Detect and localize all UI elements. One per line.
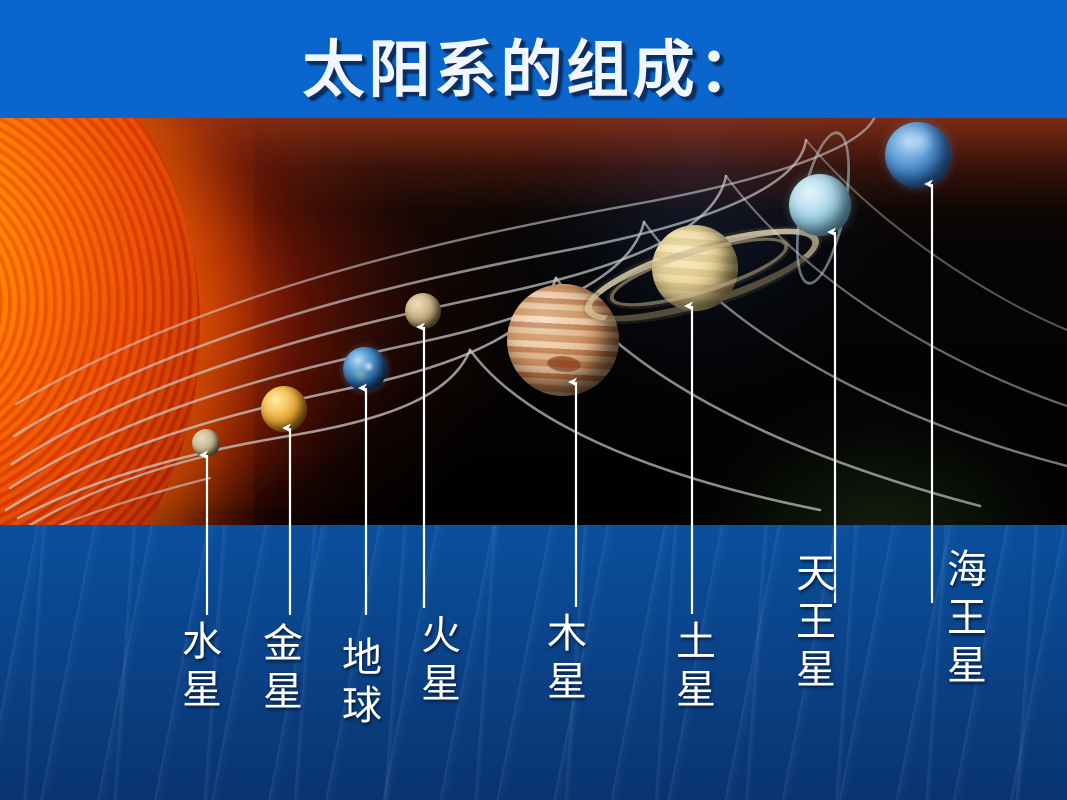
label-venus: 金星 <box>255 622 303 718</box>
label-uranus: 天王星 <box>788 552 836 696</box>
label-mars: 火星 <box>413 614 461 710</box>
label-neptune: 海王星 <box>939 548 987 692</box>
label-mercury: 水星 <box>174 620 222 716</box>
slide-root: 太阳系的组成： 水星 金星 地球 火星 木星 土星 天王星 海王星 <box>0 0 1067 800</box>
pointer-lines <box>0 0 1067 800</box>
page-title: 太阳系的组成： <box>0 36 1067 106</box>
label-saturn: 土星 <box>668 620 716 716</box>
label-jupiter: 木星 <box>539 612 587 708</box>
label-earth: 地球 <box>334 636 382 732</box>
